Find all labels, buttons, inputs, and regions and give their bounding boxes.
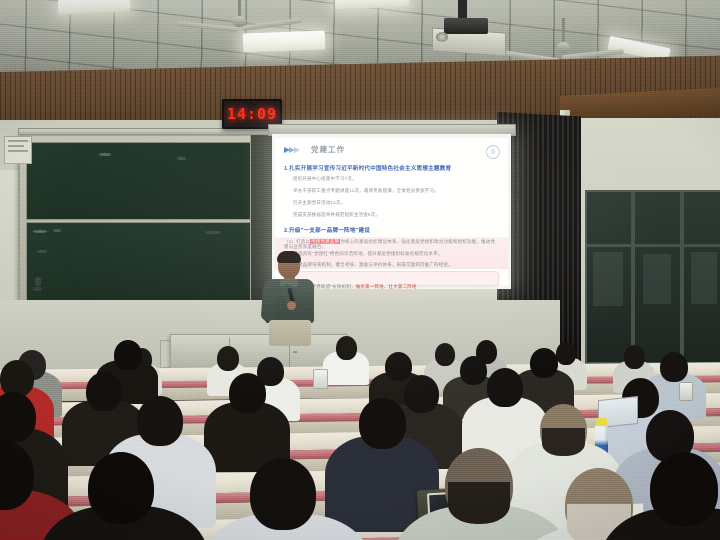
blackboard-panel-lower[interactable] [26, 222, 264, 304]
rear-glass-window [585, 190, 720, 364]
slide-logo-icon [284, 146, 306, 155]
speaker-hair [277, 251, 301, 263]
lecture-hall-photo: 14:09 党建工作 ◎ 1.扎实开展学习宣传习近平新时代中国特色社会主义思想主… [0, 0, 720, 540]
speaker-left-arm [261, 283, 277, 322]
slide-heading-2: 2.升级"一支部一品牌一阵地"建设 [284, 226, 499, 234]
blackboard-panel-upper[interactable] [26, 142, 264, 220]
smartphone-2 [679, 382, 693, 401]
speaker-trousers [269, 320, 311, 346]
slide-bullet-1: 组织开展中心组集中学习7次。 [293, 176, 499, 181]
slide-paragraph-1: （1）打造以围绕党建品牌为核心的基层组织建设体系，强化基层党组织政治功能和组织功… [284, 239, 499, 249]
slide-bullet-3: 召开主题党日活动12次。 [293, 200, 499, 205]
clock-time-display: 14:09 [227, 105, 277, 123]
ceiling-projector [0, 0, 720, 60]
water-bottle-cap [596, 418, 607, 426]
slide-heading-1: 1.扎实开展学习宣传习近平新时代中国特色社会主义思想主题教育 [284, 164, 499, 172]
wall-notice [4, 136, 32, 164]
speaker-hand [287, 301, 296, 310]
slide-bullet-4: 完成支部换届选举并规范组织生活会5次。 [293, 212, 499, 217]
slide-bullet-2: 举办干部职工重点专题讲座11次，邀请专家授课，全体党员参加学习。 [293, 188, 499, 193]
smartphone-1 [313, 369, 328, 389]
projector-lens [436, 32, 448, 42]
sliding-blackboard[interactable] [18, 134, 274, 320]
slide-header-title: 党建工作 [311, 144, 345, 155]
projector-body [444, 18, 488, 34]
callout-red-2: 壮大第二阵地 [389, 284, 417, 289]
callout-red-1: 做优第一阵地、 [356, 284, 389, 289]
speaker [258, 252, 320, 344]
slide-watermark-icon: ◎ [486, 145, 500, 159]
